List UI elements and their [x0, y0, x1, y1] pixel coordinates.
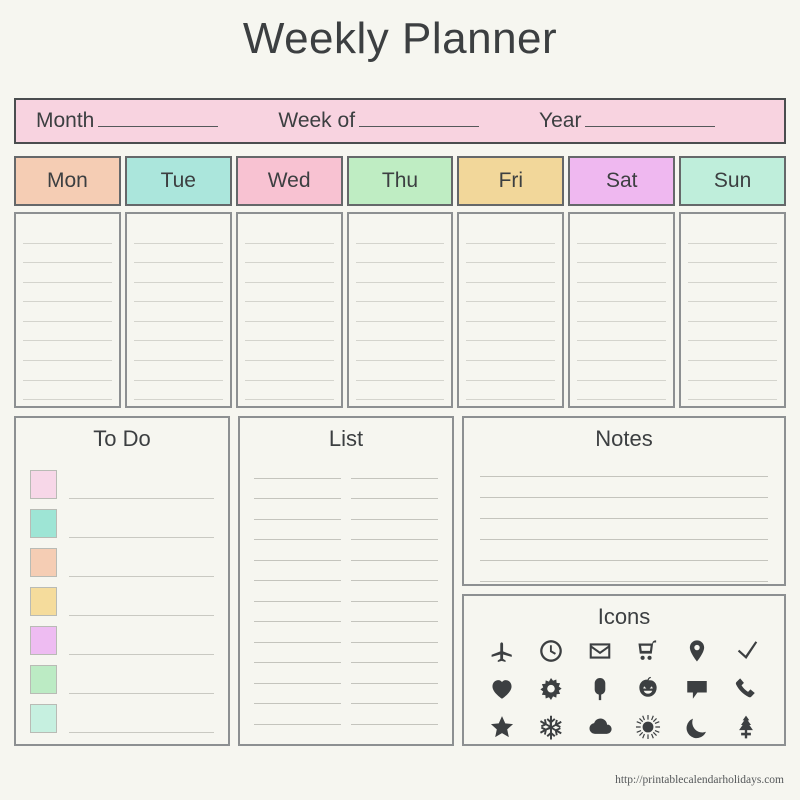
todo-title: To Do [16, 426, 228, 452]
gear-icon[interactable] [538, 676, 564, 702]
month-label: Month [36, 109, 94, 133]
todo-checkbox[interactable] [30, 548, 57, 577]
todo-item[interactable] [30, 499, 214, 538]
notes-write-line[interactable] [480, 477, 768, 498]
notes-title: Notes [464, 426, 784, 452]
list-write-line[interactable] [351, 479, 438, 500]
notes-panel: Notes [462, 416, 786, 586]
list-title: List [240, 426, 452, 452]
day-write-line[interactable] [245, 341, 334, 361]
day-write-line[interactable] [356, 244, 445, 264]
list-column [351, 458, 438, 725]
day-header-tue: Tue [125, 156, 232, 206]
day-write-line[interactable] [245, 224, 334, 244]
day-write-line[interactable] [688, 263, 777, 283]
day-write-line[interactable] [23, 341, 112, 361]
todo-checkbox[interactable] [30, 509, 57, 538]
todo-checkbox[interactable] [30, 626, 57, 655]
day-write-line[interactable] [245, 302, 334, 322]
day-write-line[interactable] [356, 283, 445, 303]
day-write-line[interactable] [577, 244, 666, 264]
notes-lines [464, 452, 784, 582]
day-header-label: Thu [382, 169, 418, 193]
day-column-wed[interactable] [236, 212, 343, 408]
todo-item[interactable] [30, 655, 214, 694]
day-write-line[interactable] [23, 283, 112, 303]
day-column-tue[interactable] [125, 212, 232, 408]
day-write-line[interactable] [688, 244, 777, 264]
todo-write-line[interactable] [69, 497, 214, 499]
notes-write-line[interactable] [480, 519, 768, 540]
todo-write-line[interactable] [69, 653, 214, 655]
checkmark-icon[interactable] [732, 637, 760, 665]
day-header-row: MonTueWedThuFriSatSun [14, 156, 786, 206]
list-write-line[interactable] [351, 520, 438, 541]
heart-icon[interactable] [489, 676, 515, 702]
day-write-line[interactable] [23, 244, 112, 264]
moon-icon[interactable] [684, 714, 710, 740]
day-header-label: Fri [499, 169, 524, 193]
day-write-line[interactable] [688, 224, 777, 244]
day-header-label: Sun [714, 169, 751, 193]
day-header-mon: Mon [14, 156, 121, 206]
list-write-line[interactable] [351, 458, 438, 479]
todo-write-line[interactable] [69, 536, 214, 538]
day-write-line[interactable] [134, 283, 223, 303]
notes-write-line[interactable] [480, 561, 768, 582]
day-write-line[interactable] [577, 283, 666, 303]
notes-write-line[interactable] [480, 498, 768, 519]
day-write-line[interactable] [577, 263, 666, 283]
page-title: Weekly Planner [0, 14, 800, 64]
list-write-line[interactable] [351, 663, 438, 684]
day-write-line[interactable] [577, 361, 666, 381]
todo-write-line[interactable] [69, 614, 214, 616]
sun-icon[interactable] [635, 714, 661, 740]
todo-panel: To Do [14, 416, 230, 746]
todo-list [16, 460, 228, 733]
list-write-line[interactable] [254, 663, 341, 684]
snowflake-icon[interactable] [538, 714, 564, 740]
list-write-line[interactable] [254, 499, 341, 520]
day-column-sun[interactable] [679, 212, 786, 408]
todo-write-line[interactable] [69, 692, 214, 694]
list-write-line[interactable] [254, 581, 341, 602]
day-header-label: Sat [606, 169, 638, 193]
list-write-line[interactable] [351, 499, 438, 520]
day-write-line[interactable] [245, 283, 334, 303]
notes-write-line[interactable] [480, 456, 768, 477]
day-write-line[interactable] [577, 341, 666, 361]
list-write-line[interactable] [351, 622, 438, 643]
list-write-line[interactable] [351, 581, 438, 602]
list-write-line[interactable] [254, 540, 341, 561]
list-write-line[interactable] [254, 704, 341, 725]
footer-url[interactable]: http://printablecalendarholidays.com [615, 774, 784, 786]
list-write-line[interactable] [254, 602, 341, 623]
day-write-line[interactable] [356, 341, 445, 361]
shopping-cart-icon[interactable] [635, 638, 661, 664]
day-write-line[interactable] [688, 361, 777, 381]
speech-bubble-icon[interactable] [684, 676, 710, 702]
popsicle-icon[interactable] [587, 676, 613, 702]
month-input-rule[interactable] [98, 111, 218, 127]
day-write-line[interactable] [688, 322, 777, 342]
day-header-wed: Wed [236, 156, 343, 206]
todo-item[interactable] [30, 616, 214, 655]
airplane-icon[interactable] [489, 638, 515, 664]
cloud-icon[interactable] [587, 714, 613, 740]
day-column-thu[interactable] [347, 212, 454, 408]
list-write-line[interactable] [254, 479, 341, 500]
notes-write-line[interactable] [480, 540, 768, 561]
list-write-line[interactable] [254, 643, 341, 664]
envelope-icon[interactable] [587, 638, 613, 664]
list-write-line[interactable] [254, 561, 341, 582]
day-write-line[interactable] [356, 302, 445, 322]
todo-item[interactable] [30, 577, 214, 616]
day-header-label: Mon [47, 169, 88, 193]
day-header-sat: Sat [568, 156, 675, 206]
week-of-field[interactable]: Week of [278, 109, 479, 133]
icons-grid [464, 630, 784, 746]
star-icon[interactable] [489, 714, 515, 740]
day-write-line[interactable] [23, 322, 112, 342]
day-write-line[interactable] [577, 381, 666, 401]
todo-checkbox[interactable] [30, 704, 57, 733]
day-write-line[interactable] [134, 224, 223, 244]
todo-item[interactable] [30, 460, 214, 499]
day-write-line[interactable] [134, 341, 223, 361]
day-write-line[interactable] [466, 381, 555, 401]
year-field[interactable]: Year [539, 109, 715, 133]
day-write-line[interactable] [356, 381, 445, 401]
todo-checkbox[interactable] [30, 470, 57, 499]
day-write-line[interactable] [466, 224, 555, 244]
clock-icon[interactable] [538, 638, 564, 664]
year-label: Year [539, 109, 581, 133]
week-of-input-rule[interactable] [359, 111, 479, 127]
tree-icon[interactable] [733, 714, 759, 740]
todo-item[interactable] [30, 538, 214, 577]
day-write-line[interactable] [134, 302, 223, 322]
day-write-line[interactable] [356, 322, 445, 342]
day-write-line[interactable] [466, 283, 555, 303]
day-write-line[interactable] [577, 322, 666, 342]
day-column-fri[interactable] [457, 212, 564, 408]
location-pin-icon[interactable] [684, 638, 710, 664]
day-write-line[interactable] [466, 244, 555, 264]
list-column [254, 458, 341, 725]
day-write-line[interactable] [23, 302, 112, 322]
day-columns-row [14, 212, 786, 408]
year-input-rule[interactable] [585, 111, 715, 127]
day-write-line[interactable] [134, 244, 223, 264]
list-write-line[interactable] [351, 602, 438, 623]
list-write-line[interactable] [351, 561, 438, 582]
day-write-line[interactable] [577, 302, 666, 322]
day-write-line[interactable] [577, 224, 666, 244]
day-header-label: Tue [161, 169, 196, 193]
day-write-line[interactable] [688, 341, 777, 361]
day-header-sun: Sun [679, 156, 786, 206]
list-write-line[interactable] [351, 684, 438, 705]
day-write-line[interactable] [134, 381, 223, 401]
day-write-line[interactable] [134, 263, 223, 283]
pumpkin-icon[interactable] [635, 676, 661, 702]
day-write-line[interactable] [23, 263, 112, 283]
list-write-line[interactable] [351, 540, 438, 561]
todo-write-line[interactable] [69, 575, 214, 577]
day-write-line[interactable] [466, 341, 555, 361]
day-write-line[interactable] [356, 263, 445, 283]
phone-icon[interactable] [733, 676, 759, 702]
list-panel: List [238, 416, 454, 746]
day-write-line[interactable] [688, 283, 777, 303]
day-write-line[interactable] [688, 302, 777, 322]
todo-write-line[interactable] [69, 731, 214, 733]
list-write-line[interactable] [254, 520, 341, 541]
day-header-fri: Fri [457, 156, 564, 206]
day-write-line[interactable] [23, 224, 112, 244]
day-write-line[interactable] [466, 322, 555, 342]
day-write-line[interactable] [466, 361, 555, 381]
day-write-line[interactable] [245, 263, 334, 283]
list-write-line[interactable] [254, 684, 341, 705]
day-write-line[interactable] [245, 244, 334, 264]
day-write-line[interactable] [466, 263, 555, 283]
day-header-label: Wed [268, 169, 311, 193]
todo-item[interactable] [30, 694, 214, 733]
icons-panel: Icons [462, 594, 786, 746]
day-write-line[interactable] [466, 302, 555, 322]
day-write-line[interactable] [356, 224, 445, 244]
todo-checkbox[interactable] [30, 665, 57, 694]
list-write-line[interactable] [351, 643, 438, 664]
day-write-line[interactable] [134, 322, 223, 342]
icons-title: Icons [464, 604, 784, 630]
day-write-line[interactable] [134, 361, 223, 381]
list-columns [240, 452, 452, 725]
planner-meta-bar: Month Week of Year [14, 98, 786, 144]
day-write-line[interactable] [23, 381, 112, 401]
day-column-sat[interactable] [568, 212, 675, 408]
day-write-line[interactable] [245, 322, 334, 342]
day-write-line[interactable] [245, 361, 334, 381]
todo-checkbox[interactable] [30, 587, 57, 616]
list-write-line[interactable] [254, 622, 341, 643]
day-write-line[interactable] [356, 361, 445, 381]
day-write-line[interactable] [245, 381, 334, 401]
month-field[interactable]: Month [36, 109, 218, 133]
day-column-mon[interactable] [14, 212, 121, 408]
day-header-thu: Thu [347, 156, 454, 206]
list-write-line[interactable] [351, 704, 438, 725]
list-write-line[interactable] [254, 458, 341, 479]
day-write-line[interactable] [688, 381, 777, 401]
day-write-line[interactable] [23, 361, 112, 381]
week-of-label: Week of [278, 109, 355, 133]
